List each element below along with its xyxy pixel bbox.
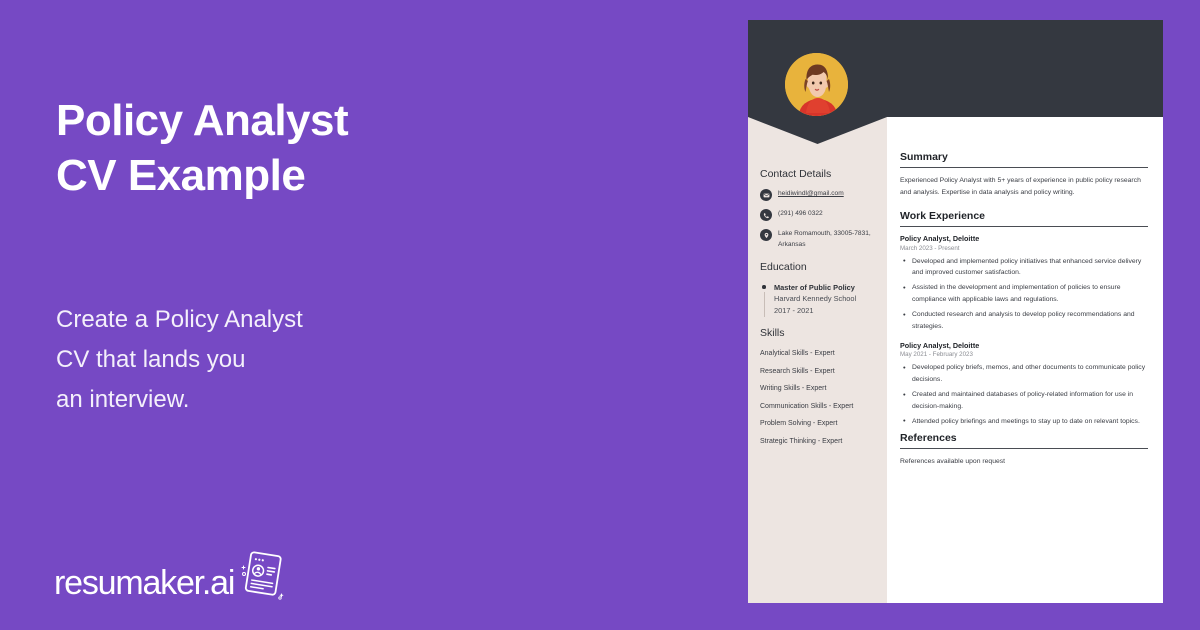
job-date-range: March 2023 - Present xyxy=(900,245,1148,252)
skill-item: Communication Skills - Expert xyxy=(760,403,878,410)
headline-line-2: CV Example xyxy=(56,148,348,203)
job-bullet: Created and maintained databases of poli… xyxy=(900,389,1148,412)
subheading-line-3: an interview. xyxy=(56,380,303,420)
contact-phone-value: (291) 496 0322 xyxy=(778,209,823,220)
skill-item: Problem Solving - Expert xyxy=(760,420,878,427)
subheading-line-1: Create a Policy Analyst xyxy=(56,300,303,340)
job-bullet: Developed policy briefs, memos, and othe… xyxy=(900,362,1148,385)
skills-section: Skills Analytical Skills - Expert Resear… xyxy=(760,327,878,455)
summary-text: Experienced Policy Analyst with 5+ years… xyxy=(900,175,1148,198)
cv-preview-card[interactable]: Heidi Windl Policy Analyst Contact Detai… xyxy=(748,20,1163,603)
job-bullet-list: Developed policy briefs, memos, and othe… xyxy=(900,362,1148,427)
skill-item: Strategic Thinking - Expert xyxy=(760,438,878,445)
education-years: 2017 - 2021 xyxy=(774,305,856,317)
promo-subheading: Create a Policy Analyst CV that lands yo… xyxy=(56,300,303,419)
timeline-line xyxy=(764,292,765,318)
education-bullet-marker xyxy=(760,282,768,317)
education-degree: Master of Public Policy xyxy=(774,282,856,293)
phone-icon xyxy=(760,209,772,221)
education-heading: Education xyxy=(760,261,878,273)
contact-row-address: Lake Romamouth, 33005-7831, Arkansas xyxy=(760,229,878,251)
job-bullet: Developed and implemented policy initiat… xyxy=(900,256,1148,279)
education-item: Master of Public Policy Harvard Kennedy … xyxy=(760,282,878,317)
job-bullet-list: Developed and implemented policy initiat… xyxy=(900,256,1148,333)
contact-email-value[interactable]: heidiwindl@gmail.com xyxy=(778,189,844,200)
avatar xyxy=(785,53,848,116)
work-experience-section: Work Experience Policy Analyst, Deloitte… xyxy=(900,210,1148,431)
resume-document-icon xyxy=(240,550,286,600)
job-bullet: Conducted research and analysis to devel… xyxy=(900,309,1148,332)
skill-item: Analytical Skills - Expert xyxy=(760,350,878,357)
job-entry: Policy Analyst, Deloitte March 2023 - Pr… xyxy=(900,234,1148,333)
references-heading: References xyxy=(900,432,1148,449)
subheading-line-2: CV that lands you xyxy=(56,340,303,380)
bullet-dot-icon xyxy=(762,285,766,289)
education-school: Harvard Kennedy School xyxy=(774,293,856,305)
job-bullet: Assisted in the development and implemen… xyxy=(900,282,1148,305)
summary-heading: Summary xyxy=(900,151,1148,168)
headline-line-1: Policy Analyst xyxy=(56,93,348,148)
job-title: Policy Analyst, Deloitte xyxy=(900,341,1148,350)
contact-row-email[interactable]: heidiwindl@gmail.com xyxy=(760,189,878,201)
skill-item: Writing Skills - Expert xyxy=(760,385,878,392)
references-section: References References available upon req… xyxy=(900,432,1148,468)
job-title: Policy Analyst, Deloitte xyxy=(900,234,1148,243)
summary-section: Summary Experienced Policy Analyst with … xyxy=(900,151,1148,198)
work-experience-heading: Work Experience xyxy=(900,210,1148,227)
education-text-group: Master of Public Policy Harvard Kennedy … xyxy=(774,282,856,317)
references-text: References available upon request xyxy=(900,456,1148,468)
contact-row-phone[interactable]: (291) 496 0322 xyxy=(760,209,878,221)
location-pin-icon xyxy=(760,229,772,241)
skills-heading: Skills xyxy=(760,327,878,339)
logo-wordmark: resumaker.ai xyxy=(54,566,234,600)
envelope-icon xyxy=(760,189,772,201)
education-section: Education Master of Public Policy Harvar… xyxy=(760,261,878,317)
job-date-range: May 2021 - February 2023 xyxy=(900,351,1148,358)
page-title: Policy Analyst CV Example xyxy=(56,93,348,203)
contact-address-value: Lake Romamouth, 33005-7831, Arkansas xyxy=(778,229,878,251)
job-entry: Policy Analyst, Deloitte May 2021 - Febr… xyxy=(900,341,1148,428)
skill-item: Research Skills - Expert xyxy=(760,368,878,375)
promo-panel: Policy Analyst CV Example Create a Polic… xyxy=(0,0,748,630)
contact-details-heading: Contact Details xyxy=(760,168,878,180)
job-bullet: Attended policy briefings and meetings t… xyxy=(900,416,1148,428)
contact-details-section: Contact Details heidiwindl@gmail.com (29… xyxy=(760,168,878,259)
resumaker-logo[interactable]: resumaker.ai xyxy=(54,550,286,600)
